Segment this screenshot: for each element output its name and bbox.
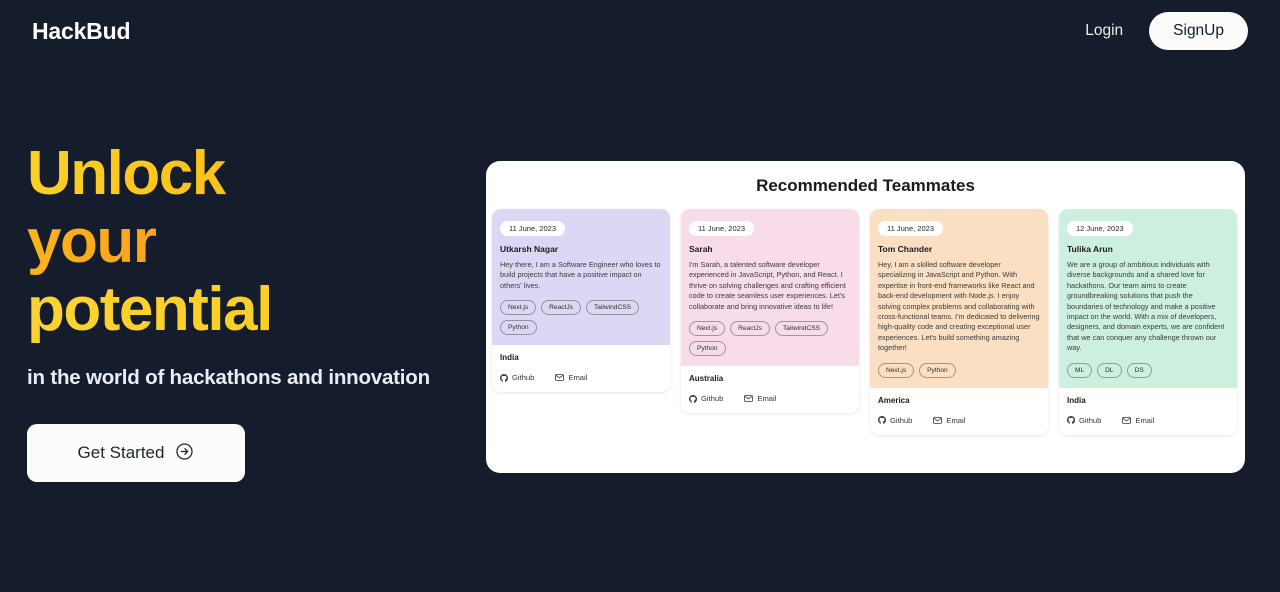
- teammate-card[interactable]: 11 June, 2023Tom ChanderHey, I am a skil…: [870, 209, 1048, 435]
- card-date-badge: 11 June, 2023: [689, 221, 754, 236]
- skill-tag[interactable]: Python: [919, 363, 956, 378]
- github-icon: [878, 416, 886, 424]
- envelope-icon: [933, 417, 942, 424]
- skill-tag[interactable]: DS: [1127, 363, 1152, 378]
- skill-tag[interactable]: ReactJs: [730, 321, 770, 336]
- hero-title-line-2: your: [27, 208, 487, 276]
- login-link[interactable]: Login: [1077, 16, 1131, 46]
- skill-tag[interactable]: Python: [689, 341, 726, 356]
- teammate-contact-links: GithubEmail: [1067, 416, 1229, 425]
- panel-title: Recommended Teammates: [486, 161, 1245, 196]
- hero-section: Unlock your potential in the world of ha…: [27, 140, 487, 482]
- teammate-card-body: 11 June, 2023Utkarsh NagarHey there, I a…: [492, 209, 670, 345]
- github-icon: [500, 374, 508, 382]
- navbar: HackBud Login SignUp: [0, 0, 1280, 62]
- hero-subtitle: in the world of hackathons and innovatio…: [27, 366, 487, 390]
- skill-tag[interactable]: TailwindCSS: [586, 300, 639, 315]
- teammate-name: Utkarsh Nagar: [500, 244, 662, 254]
- get-started-label: Get Started: [78, 443, 165, 463]
- teammate-country: India: [500, 353, 662, 362]
- teammate-bio: Hey, I am a skilled software developer s…: [878, 260, 1040, 354]
- github-icon: [689, 395, 697, 403]
- get-started-button[interactable]: Get Started: [27, 424, 245, 482]
- envelope-icon: [744, 395, 753, 402]
- teammate-contact-links: GithubEmail: [878, 416, 1040, 425]
- github-label: Github: [512, 373, 534, 382]
- skill-tag-list: MLDLDS: [1067, 363, 1229, 378]
- email-label: Email: [1135, 416, 1154, 425]
- teammate-bio: I'm Sarah, a talented software developer…: [689, 260, 851, 312]
- teammate-card-body: 11 June, 2023Tom ChanderHey, I am a skil…: [870, 209, 1048, 388]
- teammate-name: Tulika Arun: [1067, 244, 1229, 254]
- hero-title-line-3: potential: [27, 276, 487, 344]
- email-link[interactable]: Email: [933, 416, 965, 425]
- teammate-name: Sarah: [689, 244, 851, 254]
- email-link[interactable]: Email: [555, 373, 587, 382]
- github-label: Github: [890, 416, 912, 425]
- brand-logo[interactable]: HackBud: [32, 18, 130, 45]
- teammate-card-footer: AustraliaGithubEmail: [681, 366, 859, 413]
- github-link[interactable]: Github: [1067, 416, 1101, 425]
- teammate-bio: We are a group of ambitious individuals …: [1067, 260, 1229, 354]
- teammate-card-footer: IndiaGithubEmail: [492, 345, 670, 392]
- teammate-card-body: 11 June, 2023SarahI'm Sarah, a talented …: [681, 209, 859, 366]
- teammate-contact-links: GithubEmail: [500, 373, 662, 382]
- github-label: Github: [701, 394, 723, 403]
- github-label: Github: [1079, 416, 1101, 425]
- skill-tag[interactable]: DL: [1097, 363, 1121, 378]
- card-date-badge: 12 June, 2023: [1067, 221, 1133, 236]
- hero-title-line-1: Unlock: [27, 140, 487, 208]
- page-title: Unlock your potential: [27, 140, 487, 344]
- card-date-badge: 11 June, 2023: [878, 221, 943, 236]
- nav-actions: Login SignUp: [1077, 12, 1248, 50]
- teammate-bio: Hey there, I am a Software Engineer who …: [500, 260, 662, 291]
- teammate-card-footer: IndiaGithubEmail: [1059, 388, 1237, 435]
- skill-tag[interactable]: ReactJs: [541, 300, 581, 315]
- skill-tag[interactable]: Next.js: [878, 363, 914, 378]
- email-link[interactable]: Email: [744, 394, 776, 403]
- github-link[interactable]: Github: [500, 373, 534, 382]
- teammate-country: India: [1067, 396, 1229, 405]
- teammate-country: Australia: [689, 374, 851, 383]
- skill-tag-list: Next.jsReactJsTailwindCSSPython: [500, 300, 662, 335]
- signup-button[interactable]: SignUp: [1149, 12, 1248, 50]
- teammate-country: America: [878, 396, 1040, 405]
- github-link[interactable]: Github: [878, 416, 912, 425]
- teammate-card-footer: AmericaGithubEmail: [870, 388, 1048, 435]
- teammate-cards-row: 11 June, 2023Utkarsh NagarHey there, I a…: [486, 196, 1245, 435]
- skill-tag[interactable]: ML: [1067, 363, 1092, 378]
- teammate-card[interactable]: 11 June, 2023Utkarsh NagarHey there, I a…: [492, 209, 670, 392]
- arrow-right-circle-icon: [175, 442, 194, 464]
- skill-tag[interactable]: TailwindCSS: [775, 321, 828, 336]
- email-label: Email: [946, 416, 965, 425]
- email-label: Email: [757, 394, 776, 403]
- github-link[interactable]: Github: [689, 394, 723, 403]
- card-date-badge: 11 June, 2023: [500, 221, 565, 236]
- skill-tag[interactable]: Next.js: [689, 321, 725, 336]
- envelope-icon: [555, 374, 564, 381]
- teammate-card[interactable]: 12 June, 2023Tulika ArunWe are a group o…: [1059, 209, 1237, 435]
- skill-tag[interactable]: Python: [500, 320, 537, 335]
- skill-tag[interactable]: Next.js: [500, 300, 536, 315]
- teammate-contact-links: GithubEmail: [689, 394, 851, 403]
- teammate-name: Tom Chander: [878, 244, 1040, 254]
- skill-tag-list: Next.jsReactJsTailwindCSSPython: [689, 321, 851, 356]
- skill-tag-list: Next.jsPython: [878, 363, 1040, 378]
- envelope-icon: [1122, 417, 1131, 424]
- github-icon: [1067, 416, 1075, 424]
- teammate-card-body: 12 June, 2023Tulika ArunWe are a group o…: [1059, 209, 1237, 388]
- teammate-card[interactable]: 11 June, 2023SarahI'm Sarah, a talented …: [681, 209, 859, 413]
- recommended-teammates-panel: Recommended Teammates 11 June, 2023Utkar…: [486, 161, 1245, 473]
- email-link[interactable]: Email: [1122, 416, 1154, 425]
- email-label: Email: [568, 373, 587, 382]
